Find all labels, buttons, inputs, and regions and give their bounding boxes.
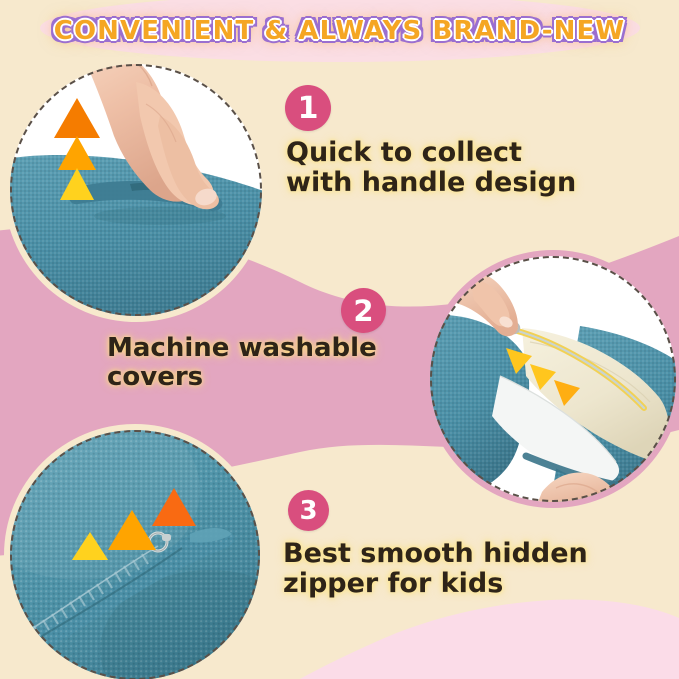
photo-1-hand-lifting-handle (10, 64, 262, 316)
step-badge-2: 2 (341, 288, 386, 333)
arrow-up-orange (42, 92, 112, 212)
step-caption-3-line-1: Best smooth hidden (283, 539, 633, 569)
step-caption-2-line-2: covers (107, 363, 437, 392)
step-caption-3-line-2: zipper for kids (283, 569, 633, 599)
page-title: CONVENIENT & ALWAYS BRAND-NEW (54, 16, 625, 46)
header-banner: CONVENIENT & ALWAYS BRAND-NEW (0, 0, 679, 62)
arrow-right-yellow (502, 342, 592, 412)
photo-3-hidden-zipper (10, 430, 260, 679)
step-caption-1: Quick to collect with handle design (286, 138, 616, 198)
step-caption-1-line-1: Quick to collect (286, 138, 616, 168)
step-badge-3: 3 (288, 490, 329, 531)
arrow-up-yellow (66, 470, 196, 560)
step-badge-1: 1 (285, 85, 331, 131)
step-caption-1-line-2: with handle design (286, 168, 616, 198)
step-caption-3: Best smooth hidden zipper for kids (283, 539, 633, 599)
step-caption-2-line-1: Machine washable (107, 334, 437, 363)
step-caption-2: Machine washable covers (107, 334, 437, 392)
photo-2-unzipping-cover (430, 256, 676, 502)
infographic-canvas: CONVENIENT & ALWAYS BRAND-NEW (0, 0, 679, 679)
